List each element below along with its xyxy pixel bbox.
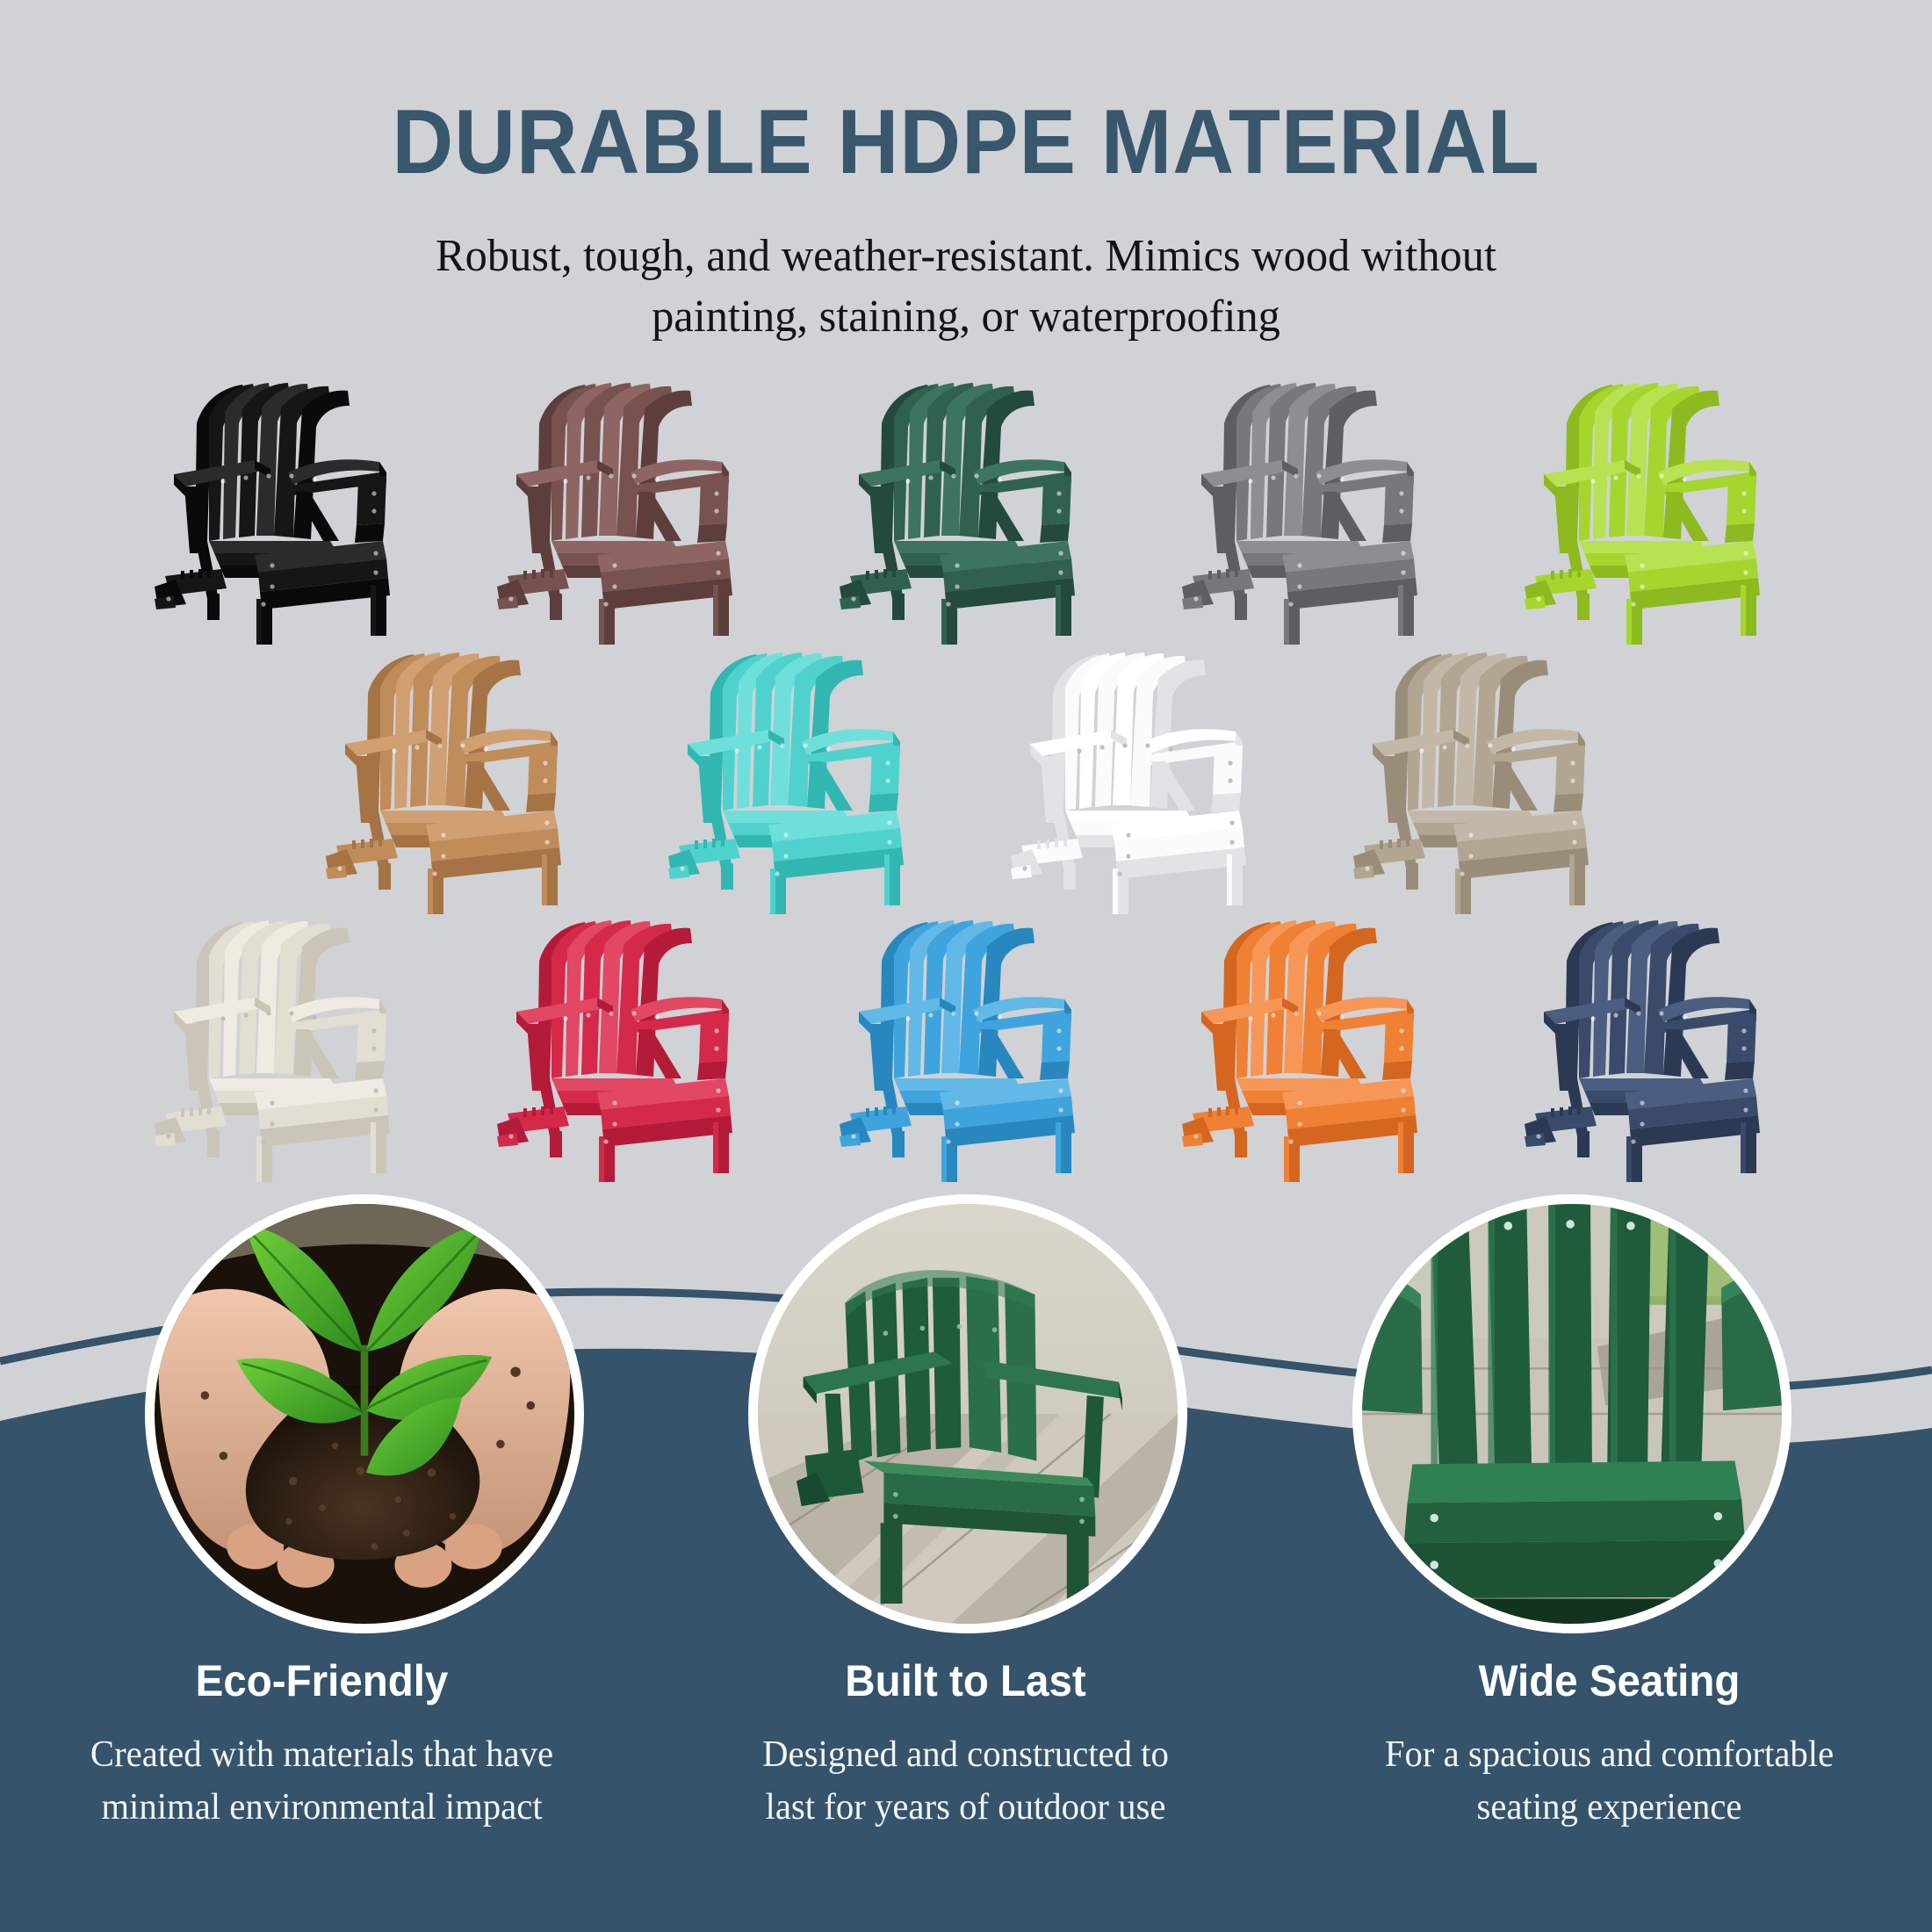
chair-color-grid [0, 369, 1932, 1183]
chair-svg [465, 906, 782, 1183]
chair-swatch-ivory[interactable] [123, 906, 439, 1183]
hands-holding-seedling-photo [145, 1194, 584, 1633]
chair-svg [808, 906, 1124, 1183]
feature-title: Eco-Friendly [36, 1655, 608, 1706]
feature-desc-line-1: Created with materials that have [90, 1734, 553, 1775]
header: DURABLE HDPE MATERIAL Robust, tough, and… [0, 0, 1932, 347]
feature-desc-line-2: seating experience [1476, 1787, 1741, 1827]
chair-svg [1150, 369, 1467, 645]
chair-svg [1322, 638, 1638, 915]
chair-row-2 [0, 638, 1932, 915]
feature-image-row [0, 1194, 1932, 1651]
chair-svg [123, 906, 439, 1183]
chair-swatch-weathered-wood[interactable] [1322, 638, 1638, 915]
wide-seat-illustration-icon [1362, 1204, 1782, 1624]
chair-svg [1493, 906, 1809, 1183]
chair-svg [465, 369, 782, 645]
chair-swatch-orange[interactable] [1150, 906, 1467, 1183]
chair-svg [979, 638, 1295, 915]
chair-swatch-turquoise[interactable] [637, 638, 953, 915]
feature-desc-line-2: minimal environmental impact [101, 1787, 542, 1827]
chair-svg [1493, 369, 1809, 645]
chair-swatch-teak-tan[interactable] [294, 638, 610, 915]
chair-swatch-black[interactable] [123, 369, 439, 645]
subtitle-line-1: Robust, tough, and weather-resistant. Mi… [436, 231, 1496, 281]
chair-svg [637, 638, 953, 915]
green-chair-wide-seat-closeup-photo [1352, 1194, 1791, 1633]
seedling-illustration-icon [155, 1204, 574, 1624]
feature-text-row: Eco-FriendlyCreated with materials that … [0, 1655, 1932, 1834]
chair-swatch-dark-brown[interactable] [465, 369, 782, 645]
patio-chair-illustration-icon [758, 1204, 1178, 1624]
chair-swatch-dark-green[interactable] [808, 369, 1124, 645]
chair-swatch-lime-green[interactable] [1493, 369, 1809, 645]
chair-swatch-navy[interactable] [1493, 906, 1809, 1183]
green-adirondack-chair-on-patio-photo [748, 1194, 1187, 1633]
subtitle-line-2: painting, staining, or waterproofing [652, 292, 1280, 342]
infographic-canvas: DURABLE HDPE MATERIAL Robust, tough, and… [0, 0, 1932, 1932]
feature-3: Wide SeatingFor a spacious and comfortab… [1287, 1655, 1931, 1834]
chair-svg [123, 369, 439, 645]
chair-swatch-white[interactable] [979, 638, 1295, 915]
feature-title: Wide Seating [1323, 1655, 1895, 1706]
page-title: DURABLE HDPE MATERIAL [68, 0, 1864, 188]
feature-description: Designed and constructed tolast for year… [674, 1729, 1257, 1834]
feature-desc-line-1: For a spacious and comfortable [1385, 1734, 1834, 1775]
chair-swatch-red[interactable] [465, 906, 782, 1183]
chair-swatch-sky-blue[interactable] [808, 906, 1124, 1183]
page-subtitle: Robust, tough, and weather-resistant. Mi… [29, 188, 1903, 347]
chair-svg [1150, 906, 1467, 1183]
chair-row-3 [0, 906, 1932, 1183]
chair-swatch-gray[interactable] [1150, 369, 1467, 645]
feature-description: Created with materials that haveminimal … [30, 1729, 613, 1834]
feature-1: Eco-FriendlyCreated with materials that … [0, 1655, 644, 1834]
feature-title: Built to Last [680, 1655, 1251, 1706]
chair-row-1 [0, 369, 1932, 645]
feature-description: For a spacious and comfortableseating ex… [1317, 1729, 1900, 1834]
chair-svg [808, 369, 1124, 645]
feature-desc-line-1: Designed and constructed to [762, 1734, 1169, 1775]
feature-2: Built to LastDesigned and constructed to… [644, 1655, 1287, 1834]
chair-svg [294, 638, 610, 915]
feature-desc-line-2: last for years of outdoor use [766, 1787, 1166, 1827]
